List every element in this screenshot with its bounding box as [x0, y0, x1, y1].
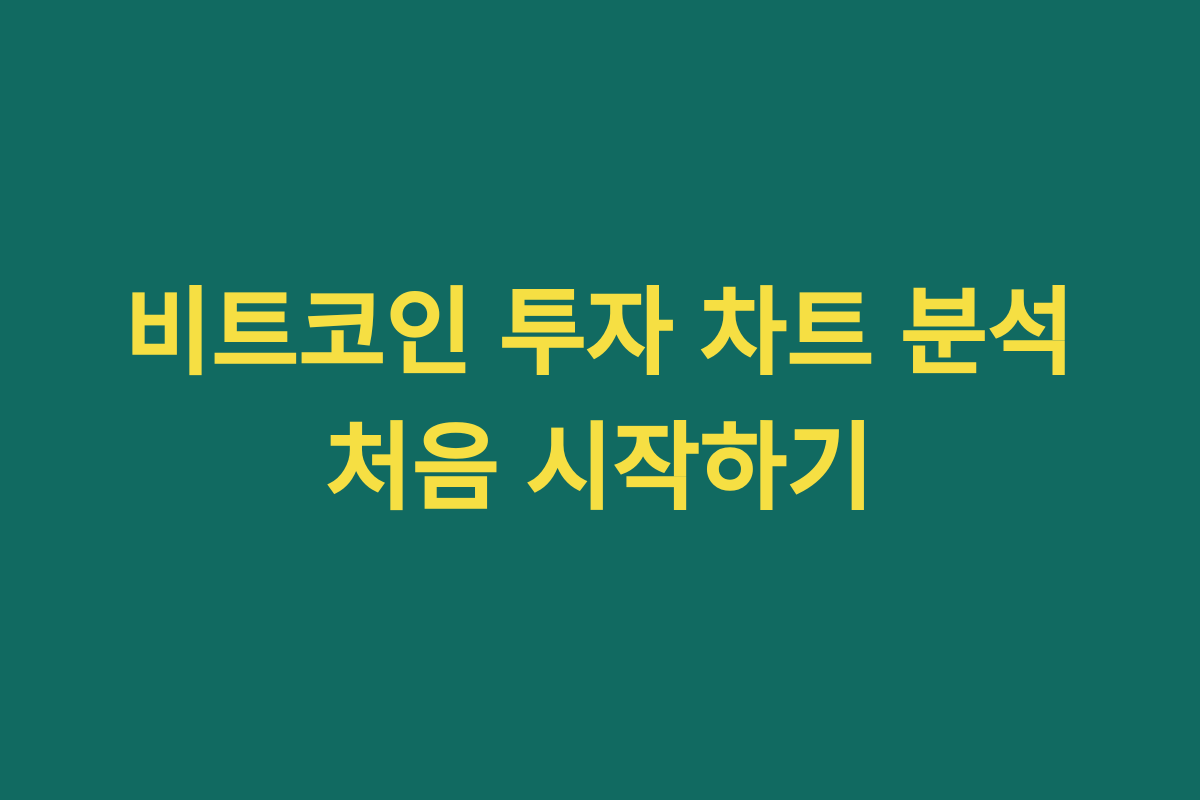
title-line-1: 비트코인 투자 차트 분석	[0, 265, 1200, 400]
title-banner: 비트코인 투자 차트 분석 처음 시작하기	[0, 0, 1200, 800]
page-title: 비트코인 투자 차트 분석 처음 시작하기	[0, 265, 1200, 535]
title-line-2: 처음 시작하기	[0, 400, 1200, 535]
